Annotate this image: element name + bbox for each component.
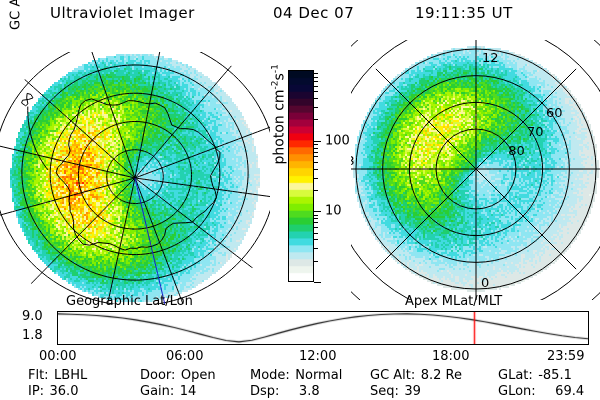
status-field: GLon:69.4 [498, 384, 588, 400]
status-field: Gain:14 [140, 384, 250, 400]
status-field-value: 8.2 Re [421, 368, 462, 384]
altitude-axis-label: GC Alt [9, 0, 24, 38]
status-field: IP:36.0 [28, 384, 140, 400]
status-field-value: 69.4 [555, 384, 584, 400]
status-field-key: Mode: [250, 368, 290, 384]
status-field-value: 39 [404, 384, 421, 400]
colorbar-tick-label: 100 [325, 134, 350, 147]
status-field-key: Seq: [370, 384, 399, 400]
status-field: Dsp:3.8 [250, 384, 370, 400]
status-field-value: -85.1 [538, 368, 572, 384]
time-tick-label: 00:00 [39, 349, 76, 364]
status-field-value: Normal [295, 368, 342, 384]
status-field-key: Dsp: [250, 384, 279, 400]
status-field-value: 3.8 [299, 384, 320, 400]
instrument-title: Ultraviolet Imager [50, 4, 195, 22]
header-bar: Ultraviolet Imager 04 Dec 07 19:11:35 UT [0, 4, 600, 30]
colorbar-ticks [314, 70, 322, 282]
colorbar-unit-exp2: -1 [271, 64, 281, 73]
status-parameter-grid: Flt:LBHLDoor:OpenMode:NormalGC Alt:8.2 R… [28, 368, 588, 400]
apex-plot-caption: Apex MLat/MLT [405, 294, 502, 309]
status-field-value: 14 [180, 384, 197, 400]
status-field-key: Gain: [140, 384, 174, 400]
status-field: GC Alt:8.2 Re [370, 368, 498, 384]
colorbar-unit-seconds: s [271, 73, 287, 80]
status-field: Seq:39 [370, 384, 498, 400]
time-tick-label: 23:59 [547, 349, 584, 364]
status-field-value: LBHL [54, 368, 87, 384]
status-field-key: GLat: [498, 368, 533, 384]
colorbar-unit-exp1: -2 [271, 80, 281, 89]
colorbar-unit-photon: photon cm [271, 89, 287, 164]
colorbar-tick-label: 10 [325, 205, 342, 218]
altitude-ytick-min: 1.8 [22, 328, 600, 343]
colorbar-gradient [288, 70, 314, 282]
status-field-value: 36.0 [50, 384, 79, 400]
status-field-key: Door: [140, 368, 175, 384]
observation-time: 19:11:35 UT [415, 4, 513, 22]
time-tick-label: 12:00 [299, 349, 336, 364]
colorbar-axis-label: photon cm-2s-1 [271, 34, 288, 194]
time-tick-label: 06:00 [166, 349, 203, 364]
time-tick-label: 18:00 [432, 349, 469, 364]
status-field: Mode:Normal [250, 368, 370, 384]
status-field-key: GC Alt: [370, 368, 415, 384]
geographic-plot-caption: Geographic Lat/Lon [66, 294, 193, 309]
status-field: GLat:-85.1 [498, 368, 588, 384]
observation-date: 04 Dec 07 [273, 4, 354, 22]
status-field-key: Flt: [28, 368, 49, 384]
status-field-key: IP: [28, 384, 44, 400]
colorbar-group: photon cm-2s-1 10010 [255, 60, 350, 290]
status-field-value: Open [181, 368, 216, 384]
status-field-key: GLon: [498, 384, 536, 400]
status-field: Flt:LBHL [28, 368, 140, 384]
altitude-ytick-max: 9.0 [22, 309, 600, 324]
status-field: Door:Open [140, 368, 250, 384]
geographic-polar-plot[interactable] [0, 52, 270, 304]
apex-mlat-mlt-polar-plot[interactable] [351, 40, 600, 300]
